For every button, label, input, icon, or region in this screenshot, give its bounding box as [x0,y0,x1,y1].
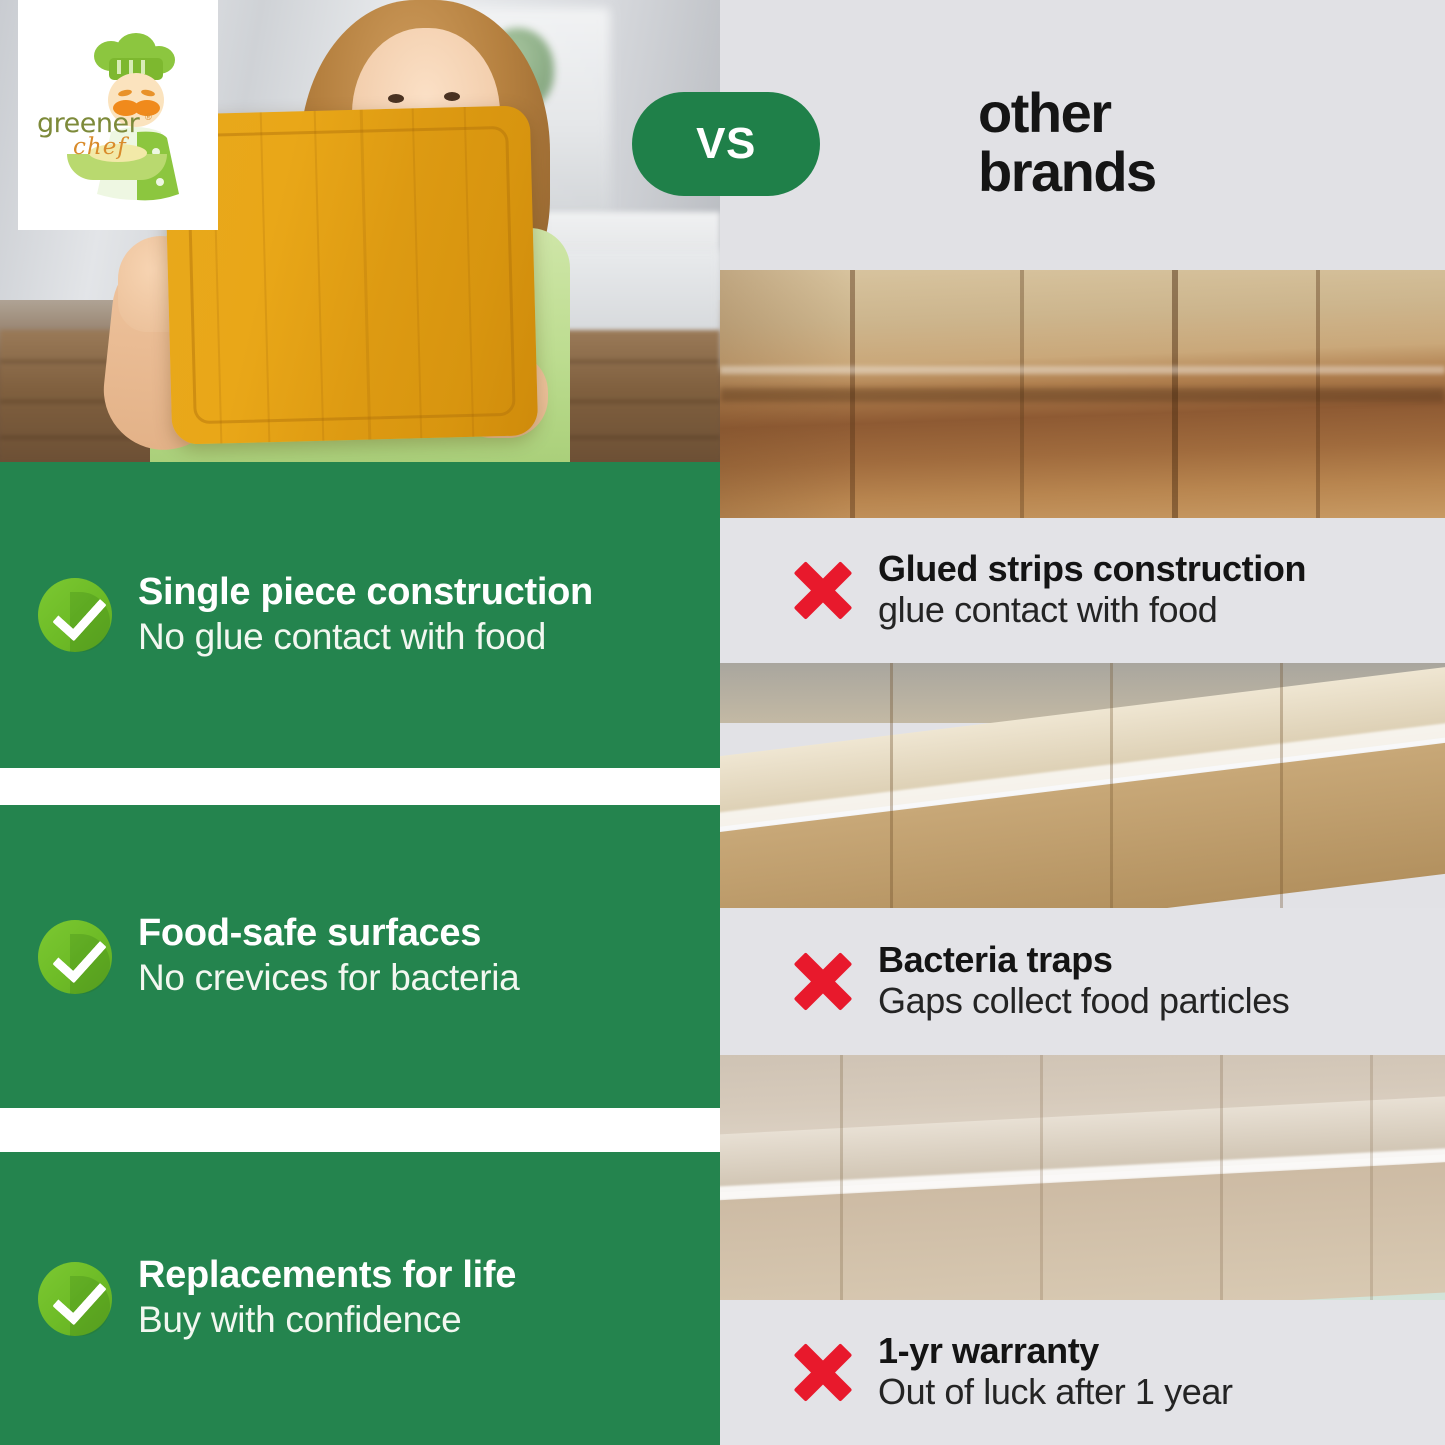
fault-title: Bacteria traps [878,941,1289,979]
wood-closeup-glued-strips [720,270,1445,518]
benefit-row-3: Replacements for life Buy with confidenc… [0,1152,720,1445]
benefit-row-2: Food-safe surfaces No crevices for bacte… [0,805,720,1108]
other-brands-title: other brands [978,84,1156,202]
comparison-infographic: greener ® chef Single piece construction… [0,0,1445,1445]
hero-photo-girl-holding-board: greener ® chef [0,0,720,462]
wood-closeup-bacteria-gaps [720,663,1445,908]
bamboo-cutting-board [164,105,539,444]
vs-label: VS [696,119,756,169]
brand-logo-card: greener ® chef [18,0,218,230]
greener-chef-logo: greener ® chef [33,20,203,210]
greener-chef-column: greener ® chef Single piece construction… [0,0,720,1445]
fault-subtitle: glue contact with food [878,590,1306,630]
benefit-row-1: Single piece construction No glue contac… [0,462,720,768]
check-icon [38,920,112,994]
registered-mark: ® [145,112,152,122]
x-icon [788,556,858,626]
x-icon [788,1338,858,1408]
wood-closeup-warranty [720,1055,1445,1300]
benefit-subtitle: Buy with confidence [138,1299,516,1340]
benefit-title: Replacements for life [138,1256,516,1296]
fault-row-1: Glued strips construction glue contact w… [720,518,1445,663]
fault-row-2: Bacteria traps Gaps collect food particl… [720,908,1445,1055]
check-icon [38,578,112,652]
benefit-title: Single piece construction [138,573,593,613]
other-brands-header: other brands [720,0,1445,270]
fault-subtitle: Out of luck after 1 year [878,1372,1233,1412]
logo-wordmark-bottom: chef [73,134,127,160]
check-icon [38,1262,112,1336]
fault-subtitle: Gaps collect food particles [878,981,1289,1021]
benefit-subtitle: No crevices for bacteria [138,957,519,998]
fault-row-3: 1-yr warranty Out of luck after 1 year [720,1300,1445,1445]
fault-title: Glued strips construction [878,550,1306,588]
benefit-title: Food-safe surfaces [138,914,519,954]
x-icon [788,947,858,1017]
benefit-subtitle: No glue contact with food [138,616,593,657]
fault-title: 1-yr warranty [878,1332,1233,1370]
other-brands-column: other brands Glued strips construction g… [720,0,1445,1445]
vs-badge: VS [632,92,820,196]
